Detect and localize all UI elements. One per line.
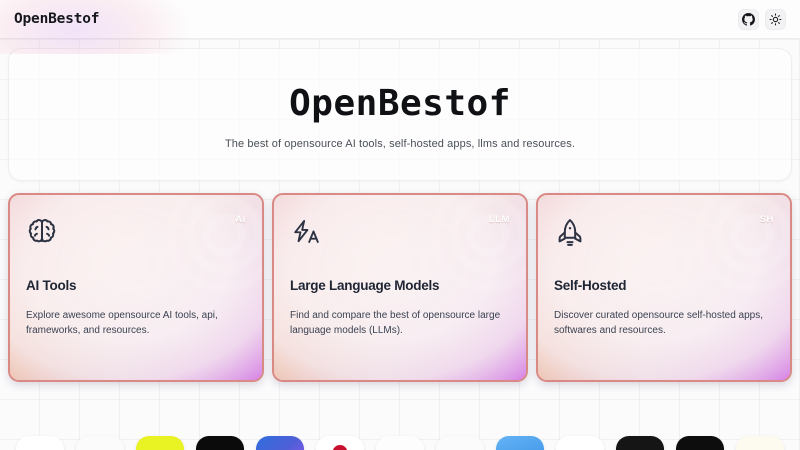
- logo-tile-1[interactable]: [16, 436, 64, 450]
- logo-tile-8[interactable]: [436, 436, 484, 450]
- logo-tile-5[interactable]: [256, 436, 304, 450]
- sun-icon: [769, 13, 782, 26]
- rocket-icon: [554, 217, 586, 249]
- logo-tile-12[interactable]: [676, 436, 724, 450]
- card-badge: LLM: [489, 214, 510, 225]
- logo-tile-13[interactable]: [736, 436, 784, 450]
- github-button[interactable]: [738, 9, 759, 30]
- page-title: OpenBestof: [29, 85, 771, 123]
- logo-tile-10[interactable]: [556, 436, 604, 450]
- card-badge: SH: [760, 214, 774, 225]
- logo-tile-11[interactable]: [616, 436, 664, 450]
- card-description: Explore awesome opensource AI tools, api…: [26, 308, 241, 339]
- card-title: Self-Hosted: [554, 278, 774, 293]
- header-actions: [738, 9, 786, 30]
- logo-tile-3[interactable]: [136, 436, 184, 450]
- card-description: Discover curated opensource self-hosted …: [554, 308, 769, 339]
- category-card-ai-tools[interactable]: AI AI Tools Explore awesome opensource A…: [8, 193, 264, 382]
- card-title: AI Tools: [26, 278, 246, 293]
- logo-tile-6[interactable]: [316, 436, 364, 450]
- category-card-self-hosted[interactable]: SH Self-Hosted Discover curated opensour…: [536, 193, 792, 382]
- logo-mark: [333, 445, 348, 450]
- logo-tile-7[interactable]: [376, 436, 424, 450]
- category-card-grid: AI AI Tools Explore awesome opensource A…: [8, 193, 792, 382]
- logo-tile-2[interactable]: [76, 436, 124, 450]
- card-badge: AI: [235, 214, 246, 225]
- page-subtitle: The best of opensource AI tools, self-ho…: [29, 138, 771, 150]
- app-header: OpenBestof: [0, 0, 800, 39]
- category-card-large-language-models[interactable]: LLM Large Language Models Find and compa…: [272, 193, 528, 382]
- partner-logo-strip: [0, 436, 800, 450]
- theme-toggle-button[interactable]: [765, 9, 786, 30]
- logo-tile-4[interactable]: [196, 436, 244, 450]
- hero-section: OpenBestof The best of opensource AI too…: [8, 48, 792, 181]
- github-icon: [742, 13, 755, 26]
- bolt-a-icon: [290, 217, 322, 249]
- logo-tile-9[interactable]: [496, 436, 544, 450]
- card-description: Find and compare the best of opensource …: [290, 308, 505, 339]
- brain-icon: [26, 217, 58, 249]
- brand-logo[interactable]: OpenBestof: [14, 11, 99, 27]
- card-title: Large Language Models: [290, 278, 510, 293]
- main-content: OpenBestof The best of opensource AI too…: [0, 39, 800, 382]
